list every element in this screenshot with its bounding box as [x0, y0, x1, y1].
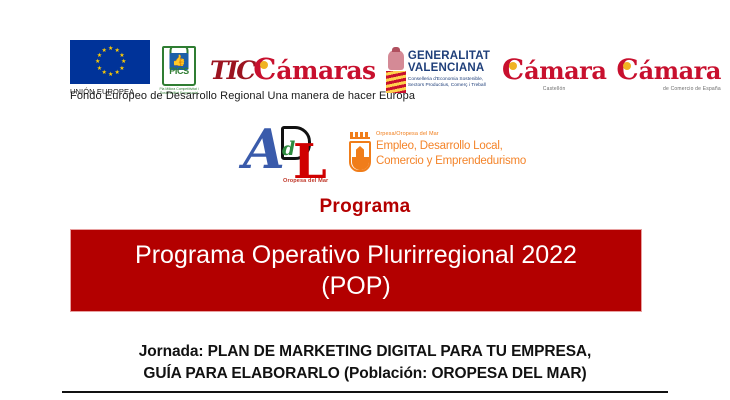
- eu-star-icon: ★: [95, 60, 99, 64]
- ticcamaras-tic-text: TIC: [210, 56, 254, 85]
- camara-espana-amara-text: ámara: [639, 56, 721, 85]
- generalitat-crest-icon: [386, 50, 404, 94]
- adl-letter-a: A: [243, 122, 285, 176]
- eu-star-icon: ★: [108, 47, 112, 51]
- generalitat-title-line1: GENERALITAT: [408, 50, 492, 62]
- oropesa-crest-icon: [347, 132, 373, 174]
- eu-star-icon: ★: [102, 71, 106, 75]
- camara-castellon-logo: C ámara Castellón: [502, 53, 607, 96]
- camara-espana-c-glyph: C: [616, 53, 638, 86]
- session-title-block: Jornada: PLAN DE MARKETING DIGITAL PARA …: [62, 341, 668, 393]
- session-title-line2: GUÍA PARA ELABORARLO (Población: OROPESA…: [62, 363, 668, 385]
- pics-logo: 👍 PICS Pla Millora Competitivitat i Sost…: [156, 46, 202, 96]
- oropesa-empleo-logo: Orpesa/Oropesa del Mar Empleo, Desarroll…: [347, 126, 526, 174]
- adl-subtitle: Oropesa del Mar: [283, 178, 328, 184]
- pics-wordmark: PICS: [164, 66, 194, 76]
- eu-star-icon: ★: [115, 49, 119, 53]
- eu-star-icon: ★: [102, 49, 106, 53]
- camara-espana-logo: C ámara de Comercio de España: [616, 53, 721, 96]
- eu-star-icon: ★: [119, 54, 123, 58]
- camara-espana-subtitle: de Comercio de España: [616, 86, 721, 92]
- session-title-line1: Jornada: PLAN DE MARKETING DIGITAL PARA …: [62, 341, 668, 363]
- camara-amara-text: ámara: [524, 56, 606, 85]
- oropesa-municipality-label: Orpesa/Oropesa del Mar: [376, 132, 526, 138]
- funding-logo-strip: ★★★★★★★★★★★★ UNIÓN EUROPEA 👍 PICS Pla Mi…: [70, 34, 670, 96]
- programa-heading: Programa: [0, 196, 730, 218]
- oropesa-dept-line1: Empleo, Desarrollo Local,: [376, 139, 526, 154]
- local-logos-row: A d L Oropesa del Mar Orpesa/Oropesa del…: [243, 126, 526, 188]
- eu-star-icon: ★: [97, 67, 101, 71]
- shopping-bag-icon: 👍 PICS: [162, 46, 196, 86]
- camara-c-glyph: C: [502, 53, 524, 86]
- shield-icon: [349, 141, 371, 172]
- eu-star-icon: ★: [97, 54, 101, 58]
- horizontal-rule: [62, 391, 668, 393]
- programme-banner: Programa Operativo Plurirregional 2022 (…: [70, 229, 642, 312]
- generalitat-subtitle: Conselleria d'Economia Sostenible, Secto…: [408, 77, 492, 89]
- banner-title-line2: (POP): [135, 271, 577, 302]
- feder-caption: Fondo Europeo de Desarrollo Regional Una…: [70, 90, 415, 102]
- ticcamaras-c-glyph: C: [253, 52, 276, 86]
- camara-castellon-subtitle: Castellón: [502, 86, 607, 92]
- adl-oropesa-logo: A d L Oropesa del Mar: [243, 126, 341, 188]
- oropesa-dept-line2: Comercio y Emprendedurismo: [376, 154, 526, 169]
- european-union-flag-icon: ★★★★★★★★★★★★: [70, 40, 150, 84]
- european-union-logo: ★★★★★★★★★★★★ UNIÓN EUROPEA: [70, 40, 150, 96]
- eu-star-icon: ★: [121, 60, 125, 64]
- generalitat-title-line2: VALENCIANA: [408, 62, 492, 74]
- ticcamaras-amaras-text: ámaras: [276, 56, 375, 85]
- eu-star-icon: ★: [108, 73, 112, 77]
- crown-icon: [350, 132, 370, 139]
- banner-title-line1: Programa Operativo Plurirregional 2022: [135, 241, 577, 269]
- eu-star-icon: ★: [115, 71, 119, 75]
